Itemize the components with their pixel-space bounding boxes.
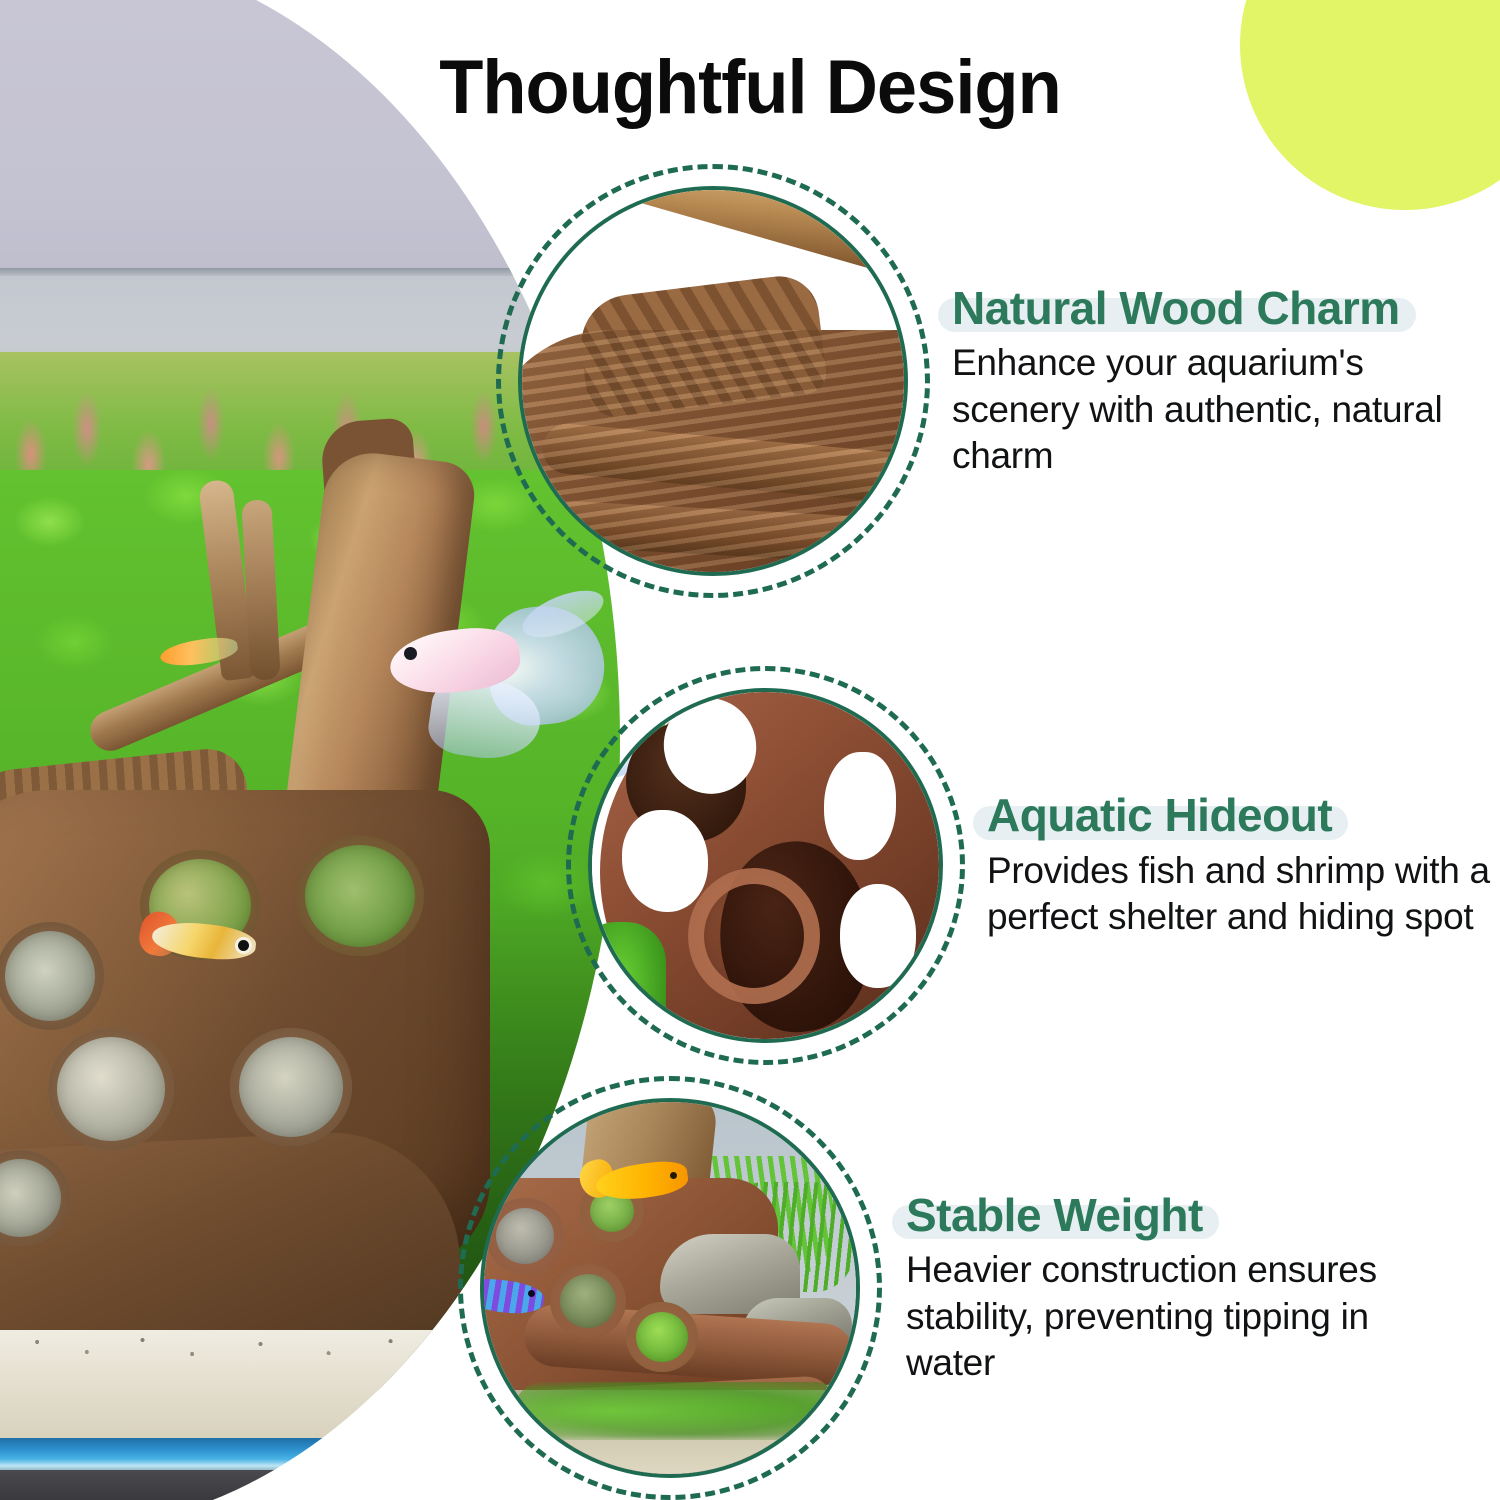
- yellow-cichlid-eye: [670, 1172, 677, 1179]
- feature-body: Enhance your aquarium's scenery with aut…: [952, 340, 1500, 479]
- moss-clump: [588, 922, 666, 1043]
- feature-text-block: Aquatic Hideout Provides fish and shrimp…: [987, 790, 1500, 940]
- feature-heading: Stable Weight: [906, 1190, 1203, 1242]
- circular-photo: [588, 688, 943, 1043]
- ornament-opening: [840, 884, 916, 988]
- rasbora-eye: [238, 940, 249, 951]
- feature-image-aquatic-hideout: [588, 688, 943, 1043]
- ornament-opening: [622, 810, 708, 912]
- foreground-moss: [514, 1382, 844, 1440]
- feature-body: Provides fish and shrimp with a perfect …: [987, 848, 1500, 941]
- feature-text-block: Natural Wood Charm Enhance your aquarium…: [952, 283, 1500, 479]
- driftwood-hole: [296, 836, 424, 956]
- driftwood-hole: [48, 1028, 174, 1150]
- hole-rim: [688, 868, 820, 1004]
- feature-text-block: Stable Weight Heavier construction ensur…: [906, 1190, 1466, 1386]
- circular-photo: [518, 186, 908, 576]
- feature-natural-wood-charm: Natural Wood Charm Enhance your aquarium…: [518, 186, 1500, 576]
- heading-wrap: Stable Weight: [906, 1190, 1203, 1242]
- heading-wrap: Aquatic Hideout: [987, 790, 1332, 842]
- feature-heading: Aquatic Hideout: [987, 790, 1332, 842]
- ornament-opening: [626, 1302, 698, 1372]
- ornament-opening: [824, 752, 896, 860]
- feature-body: Heavier construction ensures stability, …: [906, 1247, 1466, 1386]
- ornament-opening: [486, 1198, 564, 1274]
- feature-heading: Natural Wood Charm: [952, 283, 1400, 335]
- feature-image-stable-weight: [480, 1098, 860, 1478]
- driftwood-hole: [0, 922, 104, 1030]
- feature-aquatic-hideout: Aquatic Hideout Provides fish and shrimp…: [588, 688, 1500, 1043]
- blue-cichlid-eye: [528, 1290, 535, 1297]
- circular-photo: [480, 1098, 860, 1478]
- heading-wrap: Natural Wood Charm: [952, 283, 1400, 335]
- ornament-opening: [550, 1264, 626, 1338]
- wood-grain-overlay: [518, 330, 908, 576]
- feature-stable-weight: Stable Weight Heavier construction ensur…: [480, 1098, 1466, 1478]
- page-title: Thoughtful Design: [38, 44, 1463, 131]
- driftwood-hole: [230, 1028, 352, 1146]
- betta-eye: [404, 647, 417, 660]
- feature-image-natural-wood-charm: [518, 186, 908, 576]
